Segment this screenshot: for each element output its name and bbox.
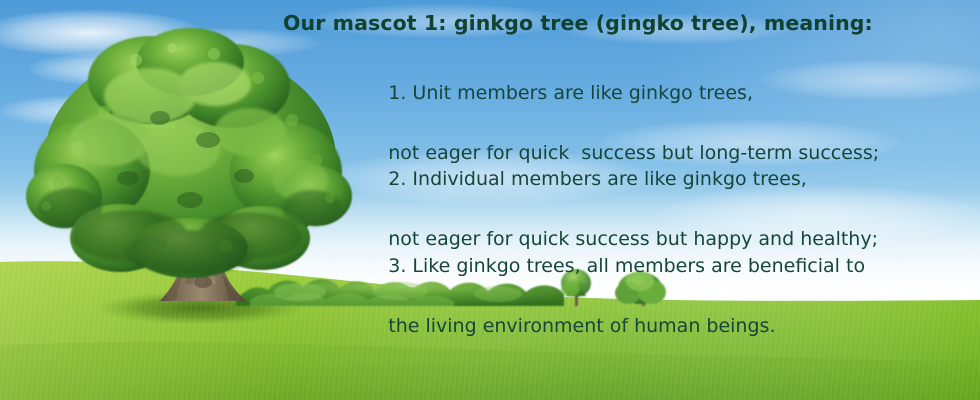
item-3-line-1: 3. Like ginkgo trees, all members are be… xyxy=(388,255,865,277)
mascot-banner: Our mascot 1: ginkgo tree (gingko tree),… xyxy=(0,0,980,400)
item-3-line-2: the living environment of human beings. xyxy=(388,315,775,337)
item-1-line-1: 1. Unit members are like ginkgo trees, xyxy=(388,82,753,104)
mascot-meaning-item-3: 3. Like ginkgo trees, all members are be… xyxy=(352,221,865,371)
item-2-line-1: 2. Individual members are like ginkgo tr… xyxy=(388,168,807,190)
text-layer: Our mascot 1: ginkgo tree (gingko tree),… xyxy=(0,0,980,400)
page-title: Our mascot 1: ginkgo tree (gingko tree),… xyxy=(283,11,873,35)
